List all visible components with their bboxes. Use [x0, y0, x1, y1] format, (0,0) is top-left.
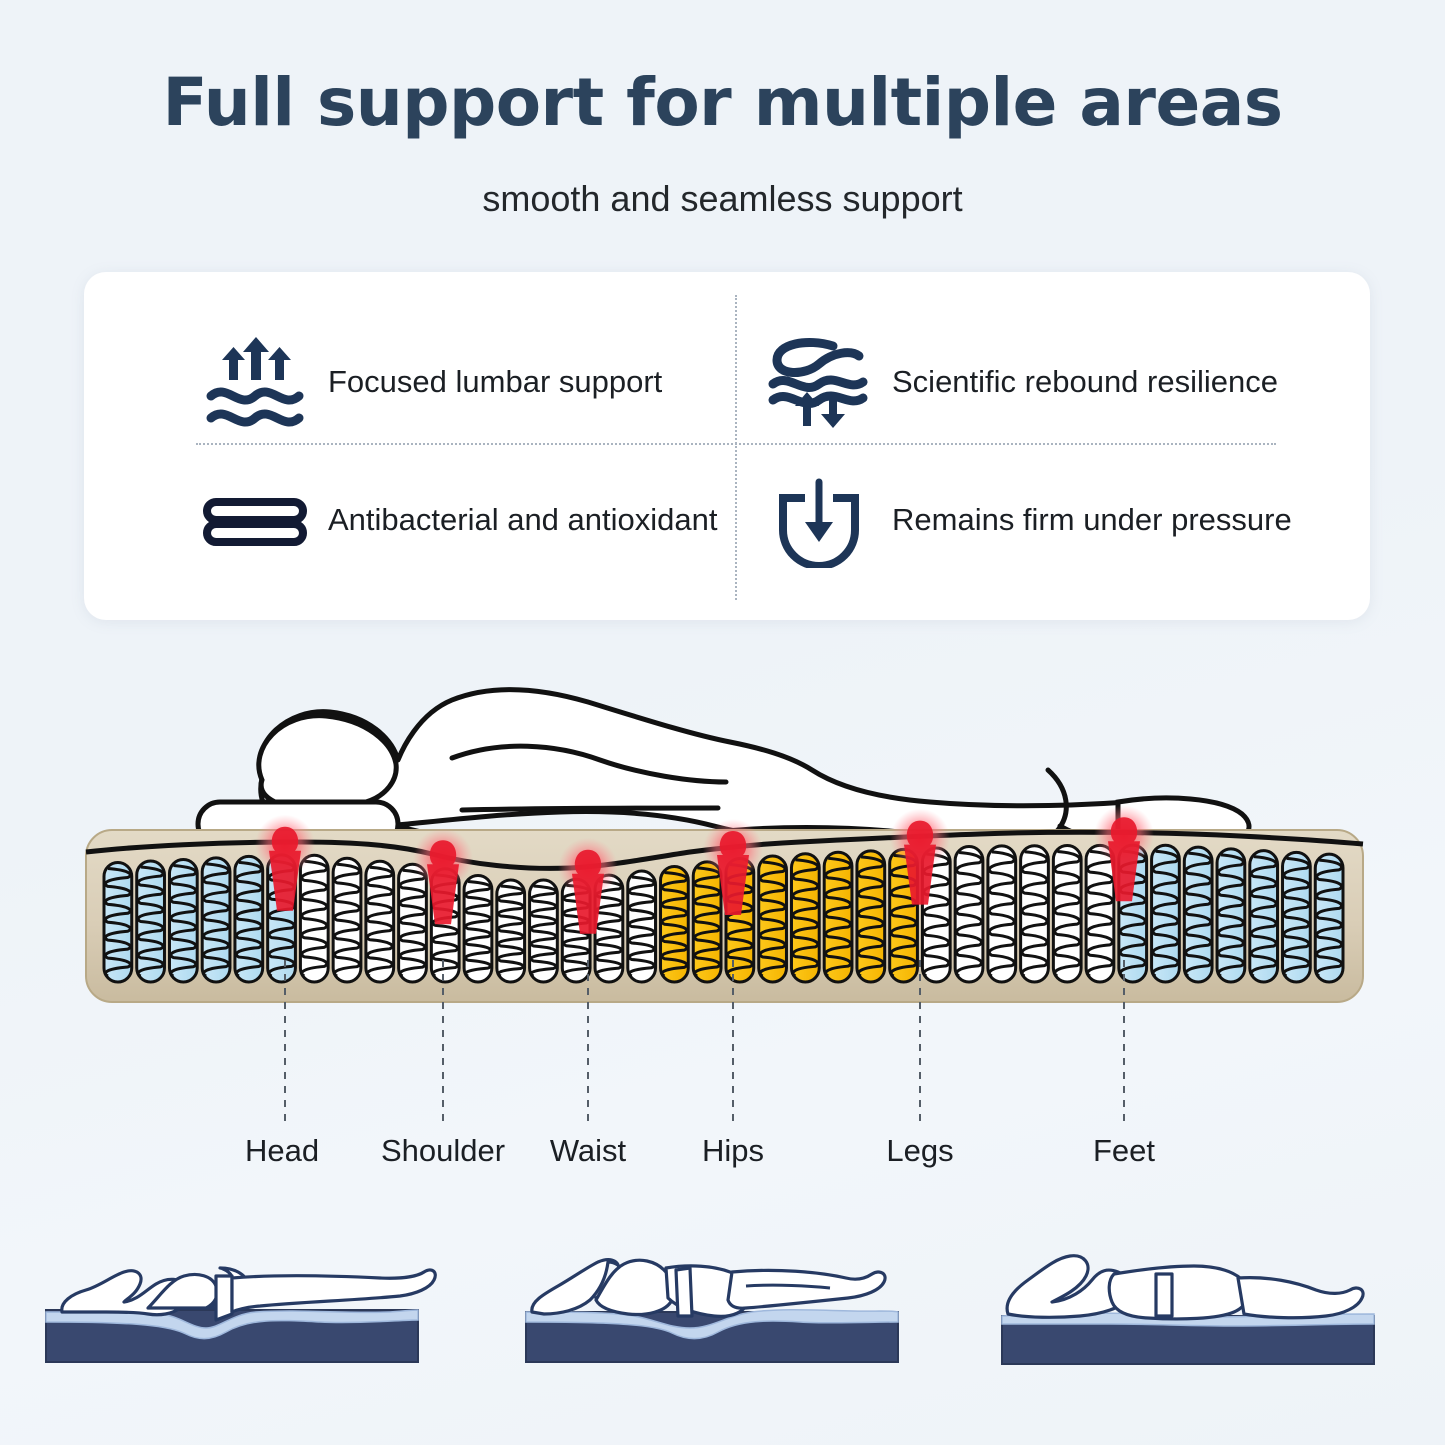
- infographic-page: Full support for multiple areas smooth a…: [0, 0, 1445, 1445]
- zone-label-feet: Feet: [1093, 1133, 1155, 1169]
- layers-antibacterial-icon: [196, 470, 314, 570]
- zone-label-head: Head: [245, 1133, 319, 1169]
- feature-label: Remains firm under pressure: [892, 502, 1292, 538]
- sleep-position-side: [500, 1228, 945, 1418]
- feature-item-lumbar-support: Focused lumbar support: [196, 332, 662, 432]
- lumbar-support-waves-icon: [196, 332, 314, 432]
- feature-divider-vertical: [735, 295, 737, 600]
- zone-label-waist: Waist: [550, 1133, 626, 1169]
- feature-label: Antibacterial and antioxidant: [328, 502, 717, 538]
- page-title: Full support for multiple areas: [0, 64, 1445, 141]
- sleep-position-prone: [980, 1228, 1425, 1418]
- feature-divider-horizontal: [196, 443, 1276, 445]
- feature-item-firm-under-pressure: Remains firm under pressure: [760, 470, 1292, 570]
- zone-label-shoulder: Shoulder: [381, 1133, 505, 1169]
- feature-label: Focused lumbar support: [328, 364, 662, 400]
- feature-item-antibacterial: Antibacterial and antioxidant: [196, 470, 717, 570]
- rebound-resilience-icon: [760, 332, 878, 432]
- zone-label-legs: Legs: [886, 1133, 953, 1169]
- zone-label-hips: Hips: [702, 1133, 764, 1169]
- firm-under-pressure-icon: [760, 470, 878, 570]
- feature-label: Scientific rebound resilience: [892, 364, 1278, 400]
- sleep-position-supine: [20, 1228, 465, 1418]
- feature-item-rebound-resilience: Scientific rebound resilience: [760, 332, 1278, 432]
- page-subtitle: smooth and seamless support: [0, 178, 1445, 220]
- mattress-cross-section-diagram: [0, 630, 1445, 1210]
